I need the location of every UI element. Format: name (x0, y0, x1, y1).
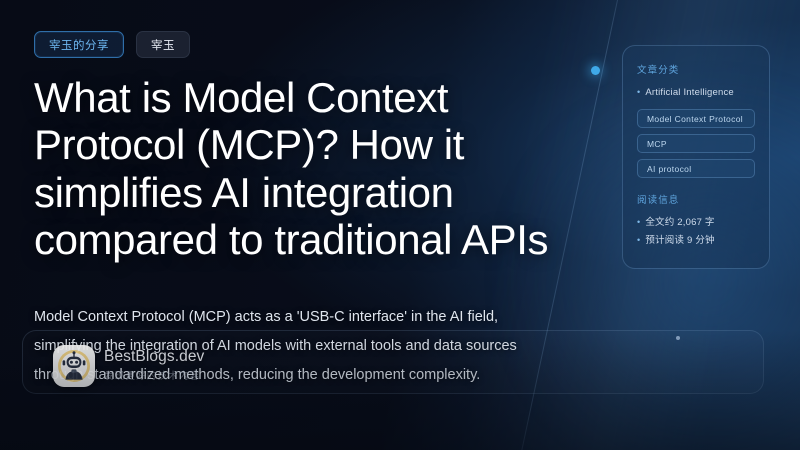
reading-info-word-count-label: 全文约 2,067 字 (645, 216, 714, 230)
tag-chip-mcp-full-label: Model Context Protocol (647, 114, 743, 124)
tag-chip-ai-protocol[interactable]: AI protocol (637, 159, 755, 178)
watermark-subtitle: 发现更好的技术内容 (104, 371, 204, 382)
reading-info-duration-label: 预计阅读 9 分钟 (645, 234, 714, 248)
tag-pill-author-share[interactable]: 宰玉的分享 (34, 31, 124, 58)
tag-chip-mcp[interactable]: MCP (637, 134, 755, 153)
bullet-dot-icon: • (637, 86, 640, 100)
category-list-item-label: Artificial Intelligence (645, 86, 734, 100)
tag-pill-author[interactable]: 宰玉 (136, 31, 190, 58)
reading-info-heading: 阅读信息 (637, 192, 755, 206)
bullet-dot-icon: • (637, 216, 640, 230)
tag-chip-mcp-label: MCP (647, 139, 667, 149)
reading-info-word-count: • 全文约 2,067 字 (637, 216, 755, 230)
watermark-title: BestBlogs.dev (104, 348, 204, 367)
small-dot (676, 336, 680, 340)
tag-pill-author-share-label: 宰玉的分享 (49, 37, 109, 53)
watermark-text: BestBlogs.dev 发现更好的技术内容 (104, 345, 204, 382)
tag-bar: 宰玉的分享 宰玉 (34, 31, 190, 58)
watermark-brand: BestBlogs.dev 发现更好的技术内容 (53, 345, 204, 387)
tag-chip-mcp-full[interactable]: Model Context Protocol (637, 109, 755, 128)
category-list: • Artificial Intelligence (637, 86, 755, 100)
reading-info-block: 阅读信息 • 全文约 2,067 字 • 预计阅读 9 分钟 (637, 192, 755, 248)
category-heading: 文章分类 (637, 62, 755, 76)
reading-info-duration: • 预计阅读 9 分钟 (637, 234, 755, 248)
bullet-dot-icon: • (637, 234, 640, 248)
reading-info-list: • 全文约 2,067 字 • 预计阅读 9 分钟 (637, 216, 755, 248)
article-cover-canvas: 宰玉的分享 宰玉 What is Model Context Protocol … (0, 0, 800, 450)
tag-pill-author-label: 宰玉 (151, 37, 175, 53)
glow-dot (591, 66, 600, 75)
article-meta-card: 文章分类 • Artificial Intelligence Model Con… (622, 45, 770, 269)
robot-avatar-icon (53, 345, 95, 387)
tag-chip-list: Model Context Protocol MCP AI protocol (637, 109, 755, 178)
tag-chip-ai-protocol-label: AI protocol (647, 164, 691, 174)
article-headline: What is Model Context Protocol (MCP)? Ho… (34, 74, 574, 264)
category-list-item: • Artificial Intelligence (637, 86, 755, 100)
